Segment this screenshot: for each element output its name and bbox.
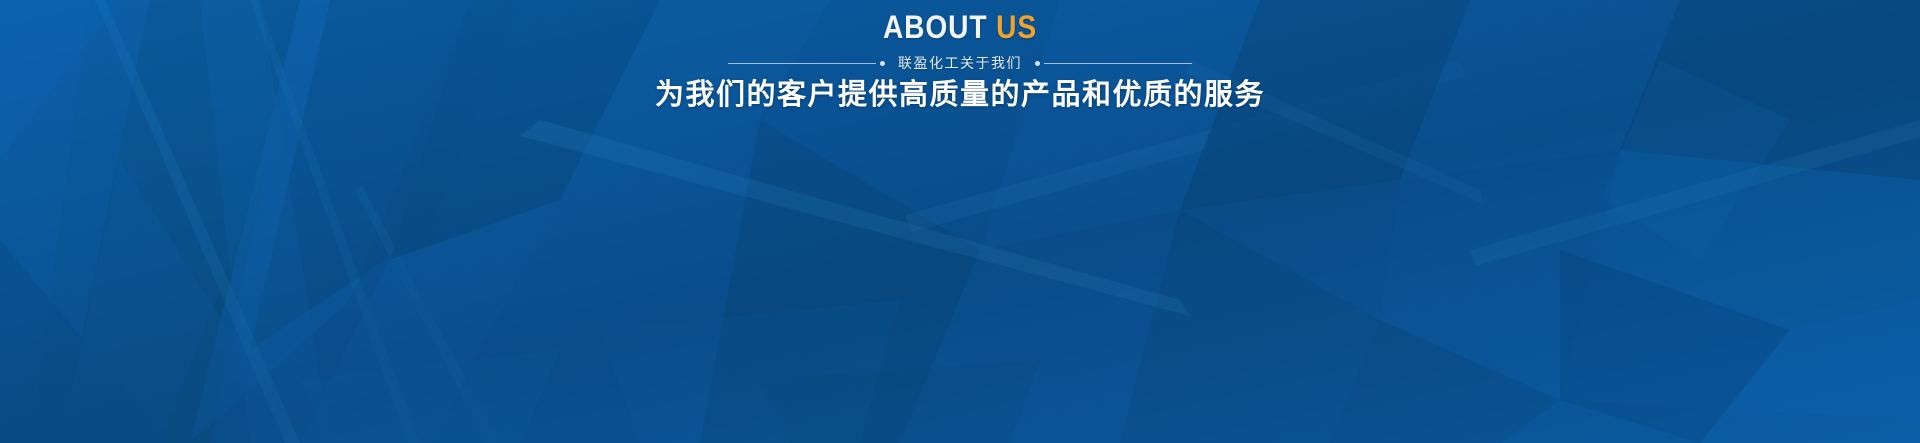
divider-line-right [1044,63,1192,64]
page-title-english: ABOUT US [115,8,1805,46]
bullet-dot-right-icon [1035,61,1040,66]
title-word-about: ABOUT [883,9,988,45]
page-headline-chinese: 为我们的客户提供高质量的产品和优质的服务 [0,77,1920,113]
about-us-hero-banner: ABOUT US 联盈化工关于我们 为我们的客户提供高质量的产品和优质的服务 [0,0,1920,443]
page-subtitle-chinese: 联盈化工关于我们 [898,54,1022,72]
title-word-us: US [996,9,1037,45]
subtitle-decorated-row: 联盈化工关于我们 [0,53,1920,73]
divider-line-left [728,63,876,64]
banner-content: ABOUT US 联盈化工关于我们 为我们的客户提供高质量的产品和优质的服务 [0,0,1920,113]
bullet-dot-left-icon [880,61,885,66]
